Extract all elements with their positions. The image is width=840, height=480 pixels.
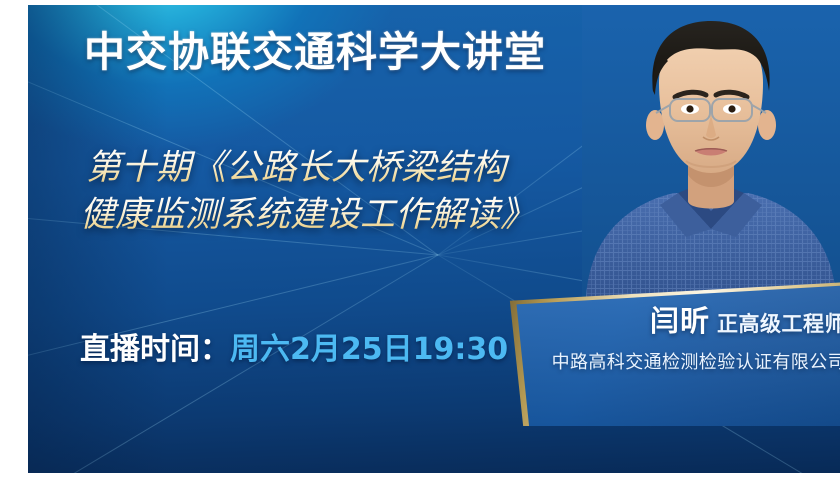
speaker-info-panel: 闫昕正高级工程师 中路高科交通检测检验认证有限公司 bbox=[498, 281, 840, 426]
portrait-icon bbox=[582, 5, 840, 297]
speaker-portrait-photo bbox=[582, 5, 840, 297]
page-title: 中交协联交通科学大讲堂 bbox=[84, 32, 546, 73]
live-time-value: 周六2月25日19:30 bbox=[230, 332, 508, 367]
speaker-organization: 中路高科交通检测检验认证有限公司 bbox=[498, 354, 840, 372]
episode-subtitle-line-1: 第十期《公路长大桥梁结构 bbox=[86, 145, 606, 192]
webinar-poster: 中交协联交通科学大讲堂 第十期《公路长大桥梁结构 健康监测系统建设工作解读》 直… bbox=[0, 0, 840, 480]
episode-subtitle: 第十期《公路长大桥梁结构 健康监测系统建设工作解读》 bbox=[86, 145, 606, 239]
speaker-name: 闫昕 bbox=[650, 304, 710, 338]
speaker-name-row: 闫昕正高级工程师 bbox=[498, 307, 840, 336]
speaker-role: 正高级工程师 bbox=[717, 312, 840, 336]
live-time-row: 直播时间：周六2月25日19:30 bbox=[80, 335, 508, 365]
poster-canvas: 中交协联交通科学大讲堂 第十期《公路长大桥梁结构 健康监测系统建设工作解读》 直… bbox=[28, 5, 840, 473]
speaker-text-block: 闫昕正高级工程师 中路高科交通检测检验认证有限公司 bbox=[498, 281, 840, 426]
live-time-label: 直播时间： bbox=[80, 332, 230, 367]
episode-subtitle-line-2: 健康监测系统建设工作解读》 bbox=[80, 192, 606, 239]
